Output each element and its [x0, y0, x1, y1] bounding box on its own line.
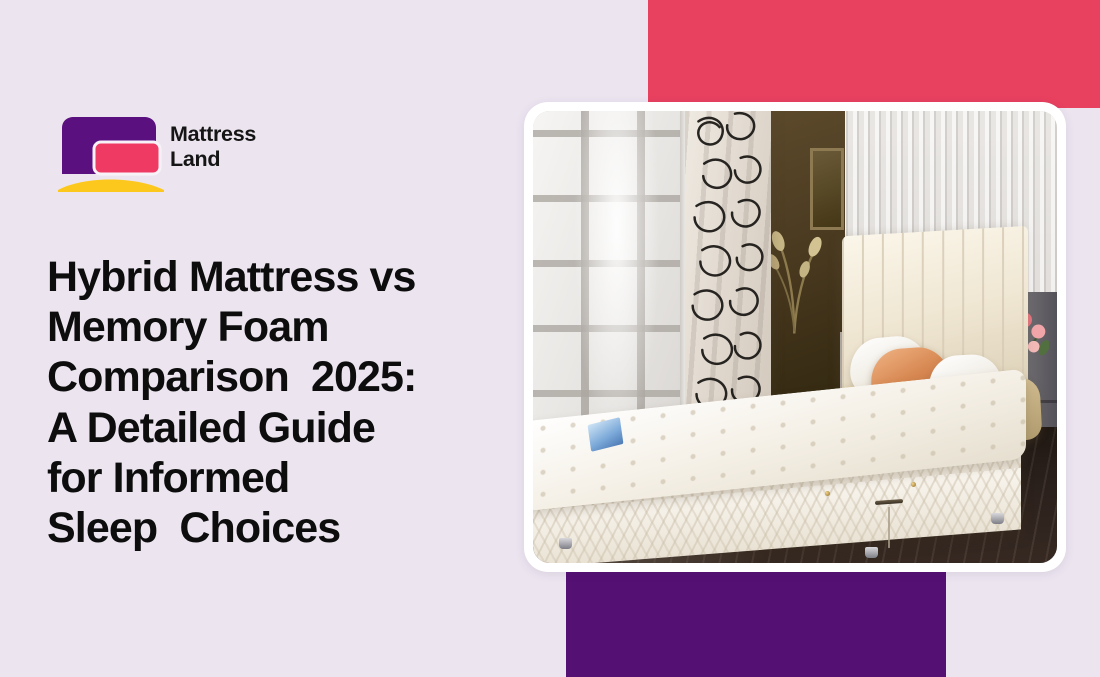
brand-logo[interactable]: Mattress Land [58, 112, 298, 194]
base-stud-right [911, 482, 916, 487]
brand-logo-text: Mattress Land [170, 122, 300, 172]
decorative-pink-block [648, 0, 1100, 108]
decorative-purple-block [566, 565, 946, 677]
mattress-land-logo-icon [58, 112, 164, 192]
hero-photo-card [524, 102, 1066, 572]
bed-foot-left [559, 538, 572, 549]
brand-name-line-2: Land [170, 147, 300, 172]
title-line-6: Sleep Choices [47, 503, 527, 553]
title-line-5: for Informed [47, 453, 527, 503]
drawer-seam [888, 506, 890, 547]
title-line-4: A Detailed Guide [47, 403, 527, 453]
photo-scene [533, 111, 1057, 563]
brand-name-line-1: Mattress [170, 122, 300, 147]
bed-foot-middle [865, 547, 878, 558]
title-line-3: Comparison 2025: [47, 352, 527, 402]
base-stud-left [825, 491, 830, 496]
bed [543, 111, 1046, 563]
page-title: Hybrid Mattress vs Memory Foam Compariso… [47, 252, 527, 554]
title-line-1: Hybrid Mattress vs [47, 252, 527, 302]
bedroom-photo [533, 111, 1057, 563]
blog-banner: Mattress Land Hybrid Mattress vs Memory … [0, 0, 1100, 677]
bed-foot-right [991, 513, 1004, 524]
title-line-2: Memory Foam [47, 302, 527, 352]
